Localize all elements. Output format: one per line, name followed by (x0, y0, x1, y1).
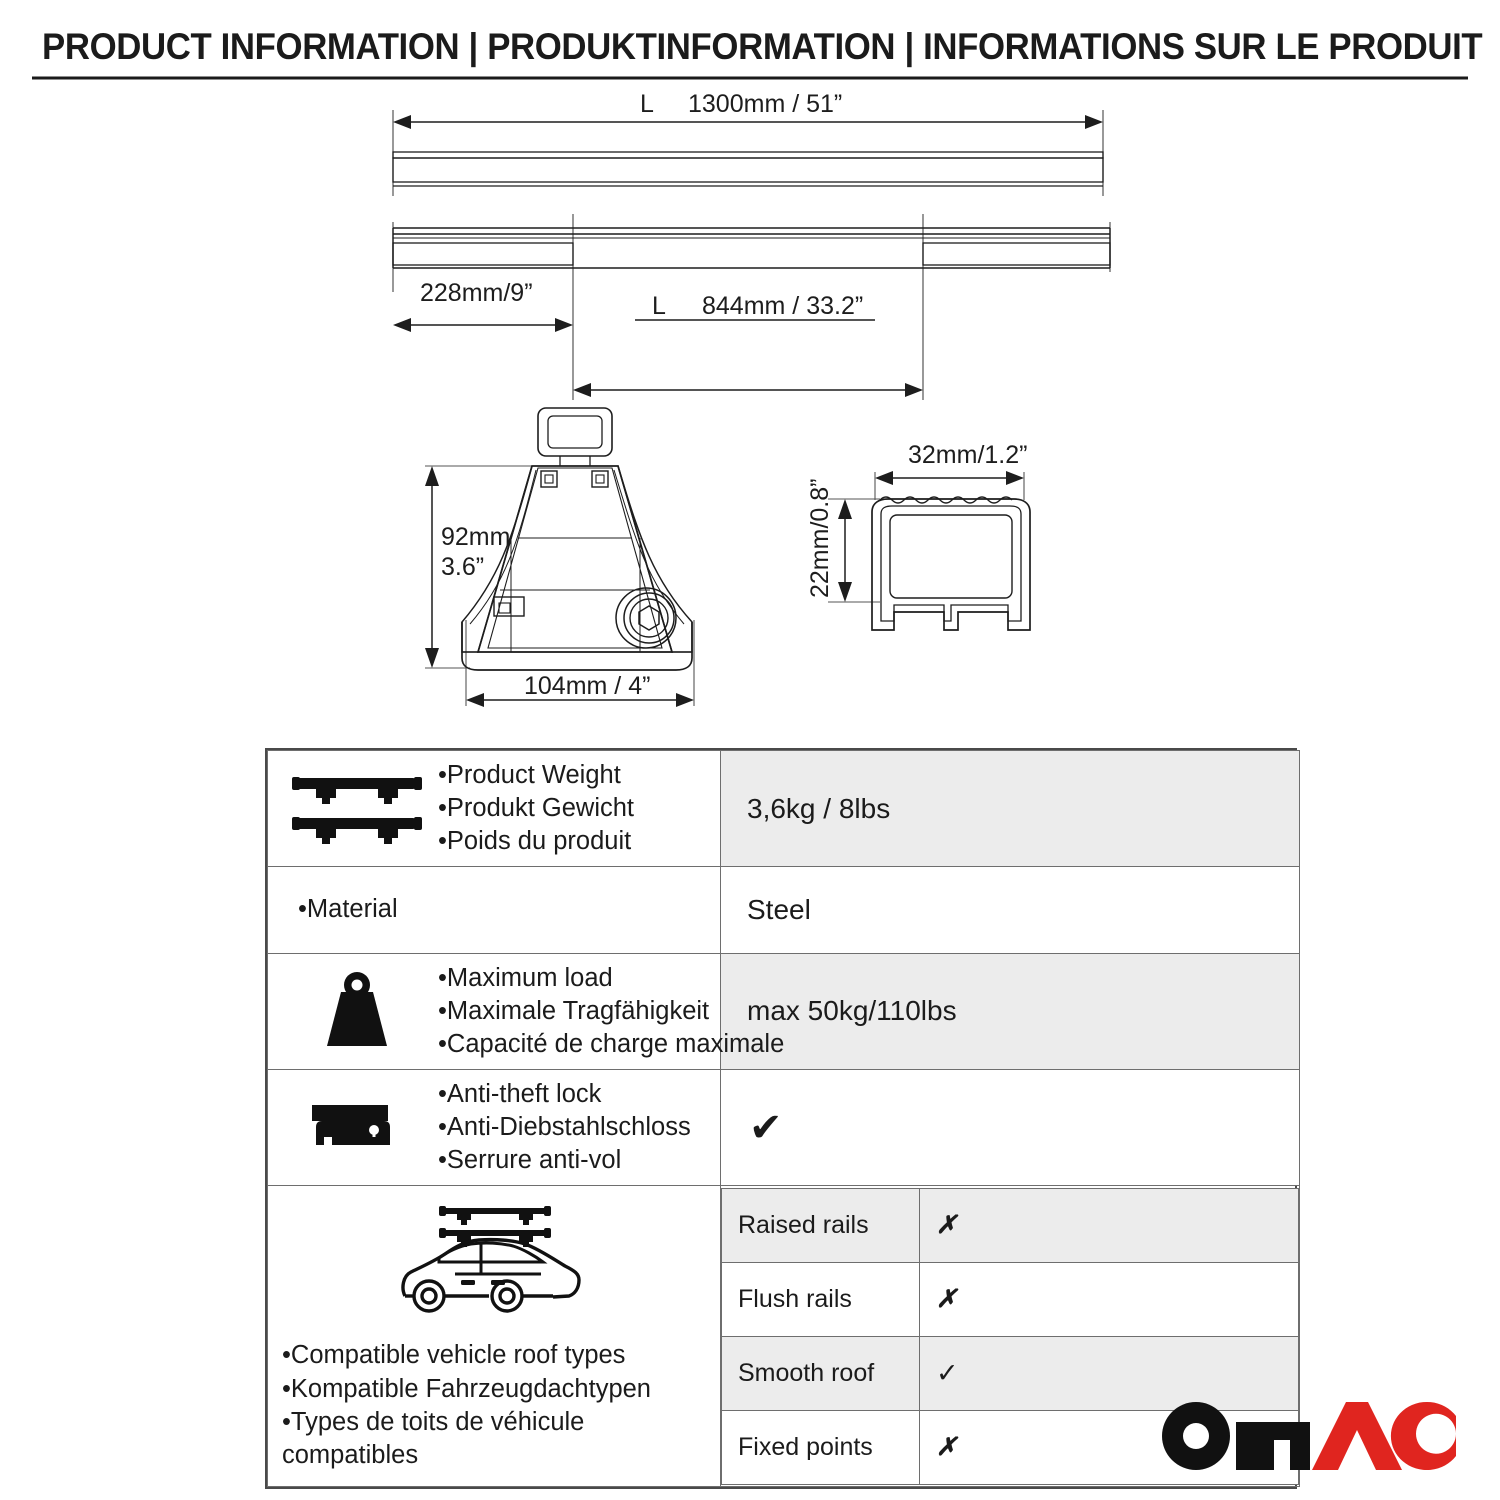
weight-icon (282, 970, 432, 1052)
label-line: •Poids du produit (438, 825, 634, 858)
bar-length-label: 1300mm / 51” (688, 90, 842, 118)
material-value: Steel (721, 867, 1300, 953)
bar-length-prefix: L (640, 90, 654, 118)
label-line: •Anti-Diebstahlschloss (438, 1111, 691, 1144)
omac-logo-mark (1160, 1400, 1460, 1472)
roof-type-row-flush-rails: Flush rails ✗ (722, 1262, 1299, 1336)
two-crossbars-icon (282, 770, 432, 848)
profile-height-label: 22mm/0.8” (806, 479, 834, 598)
label-line: •Produkt Gewicht (438, 792, 634, 825)
label-line: •Material (298, 893, 398, 926)
label-line: •Product Weight (438, 759, 634, 792)
roof-type-mark: ✗ (920, 1262, 1299, 1336)
span-length-label: 844mm / 33.2” (702, 292, 863, 320)
maximum-load-labels: •Maximum load •Maximale Tragfähigkeit •C… (438, 962, 784, 1061)
technical-drawings: L 1300mm / 51” 228mm/9” L 844mm / 33.2” … (0, 0, 1500, 745)
roof-type-mark: ✗ (920, 1188, 1299, 1262)
roof-type-name: Flush rails (722, 1262, 920, 1336)
roof-type-name: Smooth roof (722, 1336, 920, 1410)
span-prefix: L (652, 292, 666, 320)
label-line: •Compatible vehicle roof types (282, 1339, 710, 1372)
compatibility-label-cell: •Compatible vehicle roof types •Kompatib… (268, 1186, 721, 1487)
foot-width-label: 104mm / 4” (524, 672, 650, 700)
anti-theft-lock-label-cell: •Anti-theft lock •Anti-Diebstahlschloss … (268, 1069, 721, 1185)
label-line: •Capacité de charge maximale (438, 1028, 784, 1061)
anti-theft-lock-value: ✔ (721, 1069, 1300, 1185)
car-with-roof-rack-icon (282, 1196, 710, 1333)
end-section-label: 228mm/9” (420, 279, 533, 307)
omac-logo (1160, 1400, 1460, 1472)
table-row-anti-theft-lock: •Anti-theft lock •Anti-Diebstahlschloss … (268, 1069, 1300, 1185)
label-line: •Anti-theft lock (438, 1078, 691, 1111)
label-line: •Maximum load (438, 962, 784, 995)
product-weight-labels: •Product Weight •Produkt Gewicht •Poids … (438, 759, 634, 858)
label-line: •Maximale Tragfähigkeit (438, 995, 784, 1028)
label-line: •Types de toits de véhicule (282, 1406, 710, 1439)
foot-height-label-line2: 3.6” (441, 553, 484, 581)
product-weight-value: 3,6kg / 8lbs (721, 751, 1300, 867)
roof-type-name: Raised rails (722, 1188, 920, 1262)
roof-type-row-raised-rails: Raised rails ✗ (722, 1188, 1299, 1262)
maximum-load-value: max 50kg/110lbs (721, 953, 1300, 1069)
material-label-cell: •Material (268, 867, 721, 953)
anti-theft-lock-labels: •Anti-theft lock •Anti-Diebstahlschloss … (438, 1078, 691, 1177)
table-row-compatible-roof-types: •Compatible vehicle roof types •Kompatib… (268, 1186, 1300, 1487)
product-information-sheet: PRODUCT INFORMATION | PRODUKTINFORMATION… (0, 0, 1500, 1500)
label-line: compatibles (282, 1439, 710, 1472)
foot-height-label-line1: 92mm (441, 523, 510, 551)
label-line: •Serrure anti-vol (438, 1144, 691, 1177)
roof-type-name: Fixed points (722, 1410, 920, 1484)
table-row-maximum-load: •Maximum load •Maximale Tragfähigkeit •C… (268, 953, 1300, 1069)
compatibility-labels: •Compatible vehicle roof types •Kompatib… (282, 1339, 710, 1472)
maximum-load-label-cell: •Maximum load •Maximale Tragfähigkeit •C… (268, 953, 721, 1069)
label-line: •Kompatible Fahrzeugdachtypen (282, 1373, 710, 1406)
drawing-canvas: L 1300mm / 51” 228mm/9” L 844mm / 33.2” … (0, 0, 1500, 745)
profile-width-label: 32mm/1.2” (908, 441, 1027, 469)
lock-bar-icon (282, 1097, 432, 1159)
table-row-product-weight: •Product Weight •Produkt Gewicht •Poids … (268, 751, 1300, 867)
table-row-material: •Material Steel (268, 867, 1300, 953)
material-labels: •Material (282, 893, 398, 926)
product-weight-label-cell: •Product Weight •Produkt Gewicht •Poids … (268, 751, 721, 867)
specification-table: •Product Weight •Produkt Gewicht •Poids … (265, 748, 1297, 1489)
